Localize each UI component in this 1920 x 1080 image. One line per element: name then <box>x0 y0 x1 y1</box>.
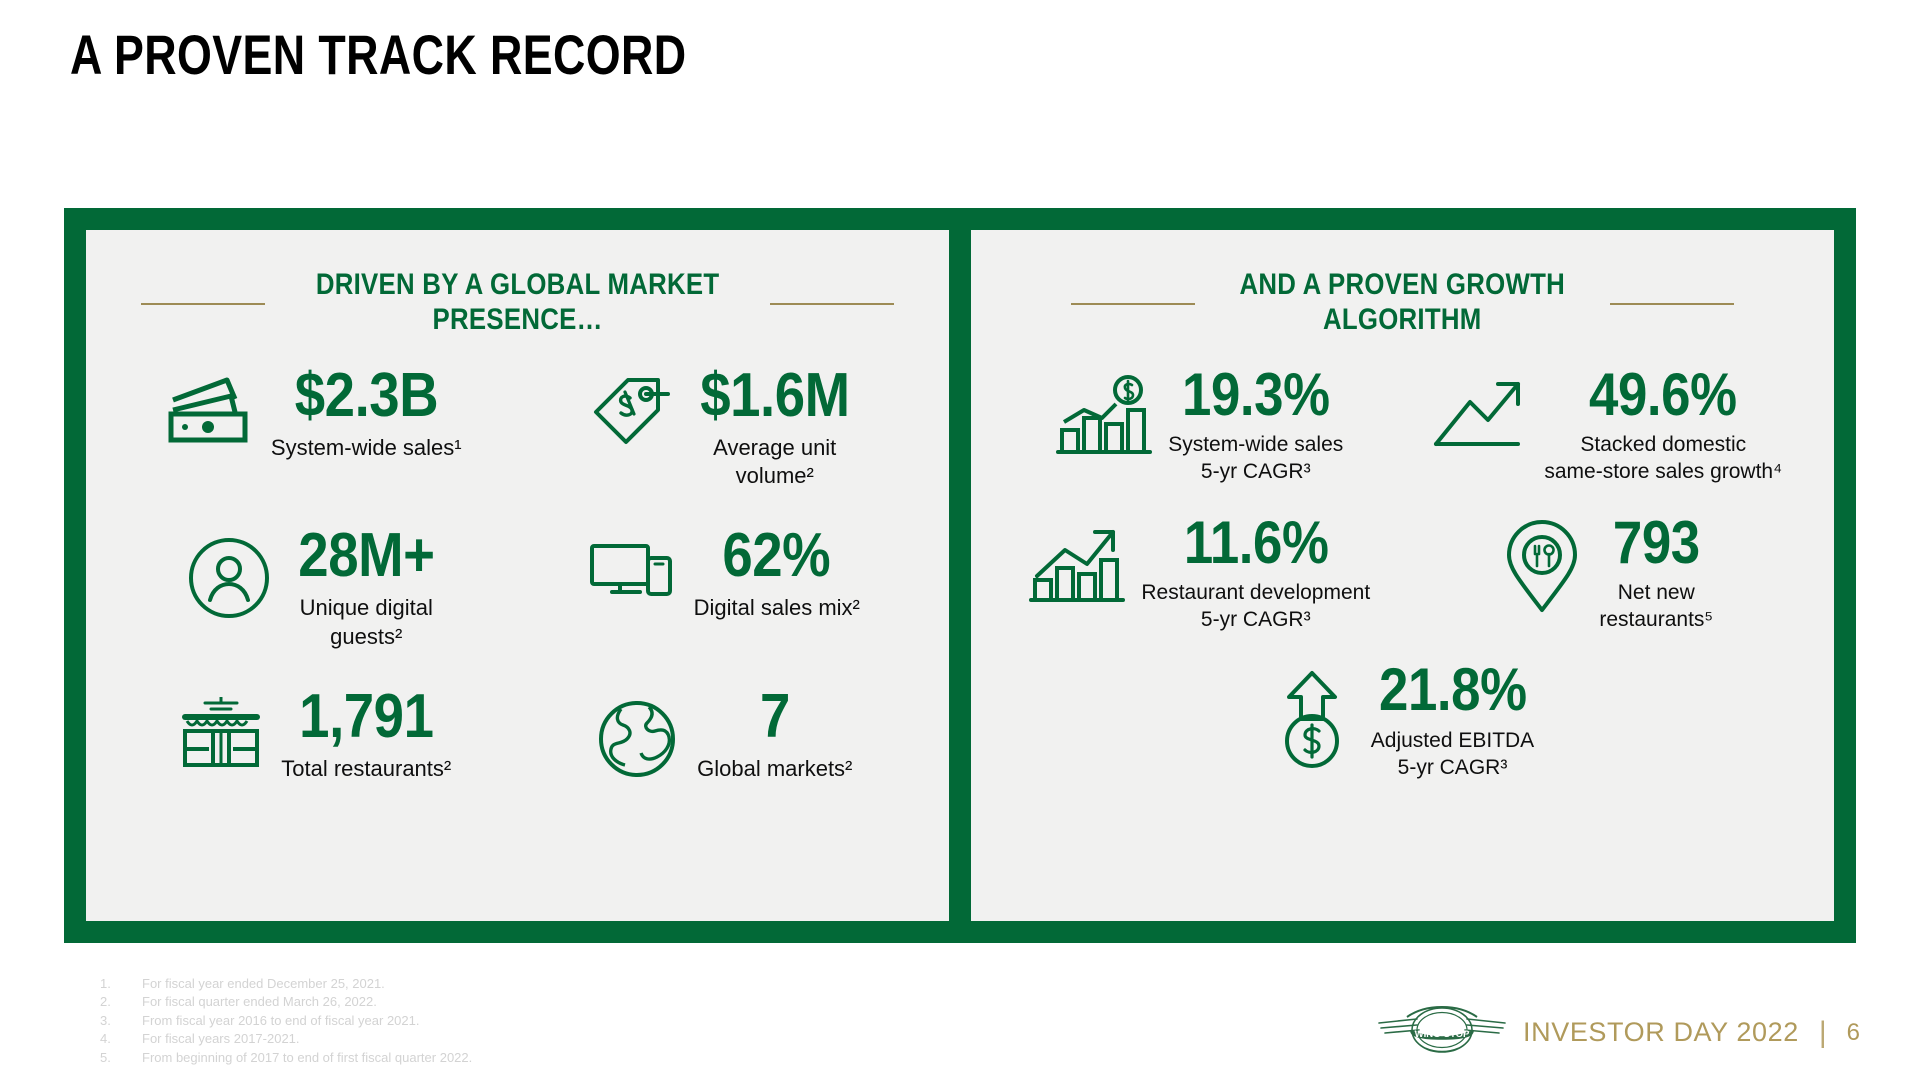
stat-average-unit-volume: $1.6M Average unit volume² <box>521 364 924 491</box>
svg-text:WING·STOP: WING·STOP <box>1415 1029 1470 1040</box>
stat-value: 49.6% <box>1589 364 1737 425</box>
bar-chart-growth-icon <box>1027 512 1127 612</box>
price-tag-dollar-icon <box>584 364 676 452</box>
right-panel-header: AND A PROVEN GROWTH ALGORITHM <box>997 268 1808 338</box>
footer: WING·STOP INVESTOR DAY 2022 | 6 <box>1377 1003 1860 1062</box>
stat-body: 62% Digital sales mix² <box>694 524 860 622</box>
cash-bills-icon <box>165 364 257 446</box>
footnote-item: 4. For fiscal years 2017-2021. <box>100 1030 472 1048</box>
stat-value: 28M+ <box>298 524 434 587</box>
left-stat-grid: $2.3B System-wide sales¹ $1.6M <box>112 364 923 785</box>
map-pin-restaurant-icon <box>1499 512 1585 616</box>
stat-value: 19.3% <box>1182 364 1330 425</box>
stat-label: Unique digital guests² <box>300 594 433 650</box>
stat-body: 11.6% Restaurant development 5-yr CAGR³ <box>1141 512 1370 634</box>
stat-label: Total restaurants² <box>281 755 451 783</box>
stat-restaurant-development-cagr: 11.6% Restaurant development 5-yr CAGR³ <box>997 512 1401 634</box>
footnote-number: 4. <box>100 1030 142 1048</box>
stat-same-store-sales-growth: 49.6% Stacked domestic same-store sales … <box>1405 364 1809 486</box>
wingstop-logo-icon: WING·STOP <box>1377 1003 1507 1062</box>
footer-separator: | <box>1819 1016 1827 1050</box>
stat-body: 49.6% Stacked domestic same-store sales … <box>1544 364 1782 486</box>
footnote-item: 2. For fiscal quarter ended March 26, 20… <box>100 993 472 1011</box>
footnote-text: From beginning of 2017 to end of first f… <box>142 1049 472 1067</box>
stat-label: Restaurant development 5-yr CAGR³ <box>1141 580 1370 634</box>
stat-digital-sales-mix: 62% Digital sales mix² <box>521 524 924 651</box>
footnote-item: 1. For fiscal year ended December 25, 20… <box>100 975 472 993</box>
stat-body: 19.3% System-wide sales 5-yr CAGR³ <box>1168 364 1343 486</box>
globe-icon <box>591 685 683 785</box>
stat-value: 1,791 <box>299 685 433 748</box>
footnote-text: For fiscal quarter ended March 26, 2022. <box>142 993 377 1011</box>
stat-body: 7 Global markets² <box>697 685 852 783</box>
footnote-number: 2. <box>100 993 142 1011</box>
stat-adjusted-ebitda-cagr: 21.8% Adjusted EBITDA 5-yr CAGR³ <box>1269 659 1537 781</box>
right-panel: AND A PROVEN GROWTH ALGORITHM <box>971 230 1834 921</box>
stat-net-new-restaurants: 793 Net new restaurants⁵ <box>1405 512 1809 634</box>
trend-arrow-icon <box>1430 364 1530 460</box>
header-rule-right <box>770 303 894 305</box>
stat-adjusted-ebitda-cagr-wrapper: 21.8% Adjusted EBITDA 5-yr CAGR³ <box>997 659 1808 781</box>
stat-value: 793 <box>1613 512 1700 573</box>
left-panel-header: DRIVEN BY A GLOBAL MARKET PRESENCE… <box>112 268 923 338</box>
footnote-text: For fiscal years 2017-2021. <box>142 1030 300 1048</box>
content-frame: DRIVEN BY A GLOBAL MARKET PRESENCE… $2.3… <box>64 208 1856 943</box>
stat-value: 7 <box>760 685 790 748</box>
header-rule-left <box>1071 303 1195 305</box>
right-stat-grid: 19.3% System-wide sales 5-yr CAGR³ 49.6%… <box>997 364 1808 782</box>
stat-label: Average unit volume² <box>713 434 836 490</box>
stat-label: Global markets² <box>697 755 852 783</box>
stat-label: Digital sales mix² <box>694 594 860 622</box>
stat-label: Stacked domestic same-store sales growth… <box>1544 432 1782 486</box>
stat-system-wide-sales-cagr: 19.3% System-wide sales 5-yr CAGR³ <box>997 364 1401 486</box>
stat-label: Net new restaurants⁵ <box>1599 580 1713 634</box>
stat-unique-digital-guests: 28M+ Unique digital guests² <box>112 524 515 651</box>
stat-total-restaurants: 1,791 Total restaurants² <box>112 685 515 785</box>
stat-value: $2.3B <box>295 364 438 427</box>
bar-chart-dollar-icon <box>1054 364 1154 464</box>
stat-system-wide-sales: $2.3B System-wide sales¹ <box>112 364 515 491</box>
page-title: A PROVEN TRACK RECORD <box>70 22 687 87</box>
footer-event-label: INVESTOR DAY 2022 <box>1523 1017 1799 1048</box>
footnote-number: 3. <box>100 1012 142 1030</box>
footnote-number: 5. <box>100 1049 142 1067</box>
right-panel-heading: AND A PROVEN GROWTH ALGORITHM <box>1240 268 1565 338</box>
stat-value: 62% <box>723 524 831 587</box>
footnote-item: 5. From beginning of 2017 to end of firs… <box>100 1049 472 1067</box>
stat-body: 21.8% Adjusted EBITDA 5-yr CAGR³ <box>1369 659 1537 781</box>
stat-body: $1.6M Average unit volume² <box>690 364 860 491</box>
header-rule-left <box>141 303 265 305</box>
stat-value: $1.6M <box>700 364 849 427</box>
left-panel: DRIVEN BY A GLOBAL MARKET PRESENCE… $2.3… <box>86 230 949 921</box>
page-number: 6 <box>1847 1019 1860 1047</box>
stat-global-markets: 7 Global markets² <box>521 685 924 785</box>
storefront-icon <box>175 685 267 777</box>
footnote-text: From fiscal year 2016 to end of fiscal y… <box>142 1012 419 1030</box>
stat-body: 28M+ Unique digital guests² <box>289 524 444 651</box>
stat-body: $2.3B System-wide sales¹ <box>271 364 462 462</box>
arrow-up-dollar-icon <box>1269 659 1355 771</box>
stat-label: System-wide sales 5-yr CAGR³ <box>1168 432 1343 486</box>
stat-body: 1,791 Total restaurants² <box>281 685 451 783</box>
stat-value: 21.8% <box>1379 659 1527 720</box>
footnote-text: For fiscal year ended December 25, 2021. <box>142 975 385 993</box>
stat-label: Adjusted EBITDA 5-yr CAGR³ <box>1371 728 1534 782</box>
footnote-number: 1. <box>100 975 142 993</box>
stat-value: 11.6% <box>1183 512 1328 573</box>
devices-icon <box>584 524 680 612</box>
stat-label: System-wide sales¹ <box>271 434 462 462</box>
user-circle-icon <box>183 524 275 624</box>
footnote-item: 3. From fiscal year 2016 to end of fisca… <box>100 1012 472 1030</box>
footnotes: 1. For fiscal year ended December 25, 20… <box>100 975 472 1067</box>
stat-body: 793 Net new restaurants⁵ <box>1599 512 1713 634</box>
left-panel-heading: DRIVEN BY A GLOBAL MARKET PRESENCE… <box>316 268 720 338</box>
header-rule-right <box>1610 303 1734 305</box>
